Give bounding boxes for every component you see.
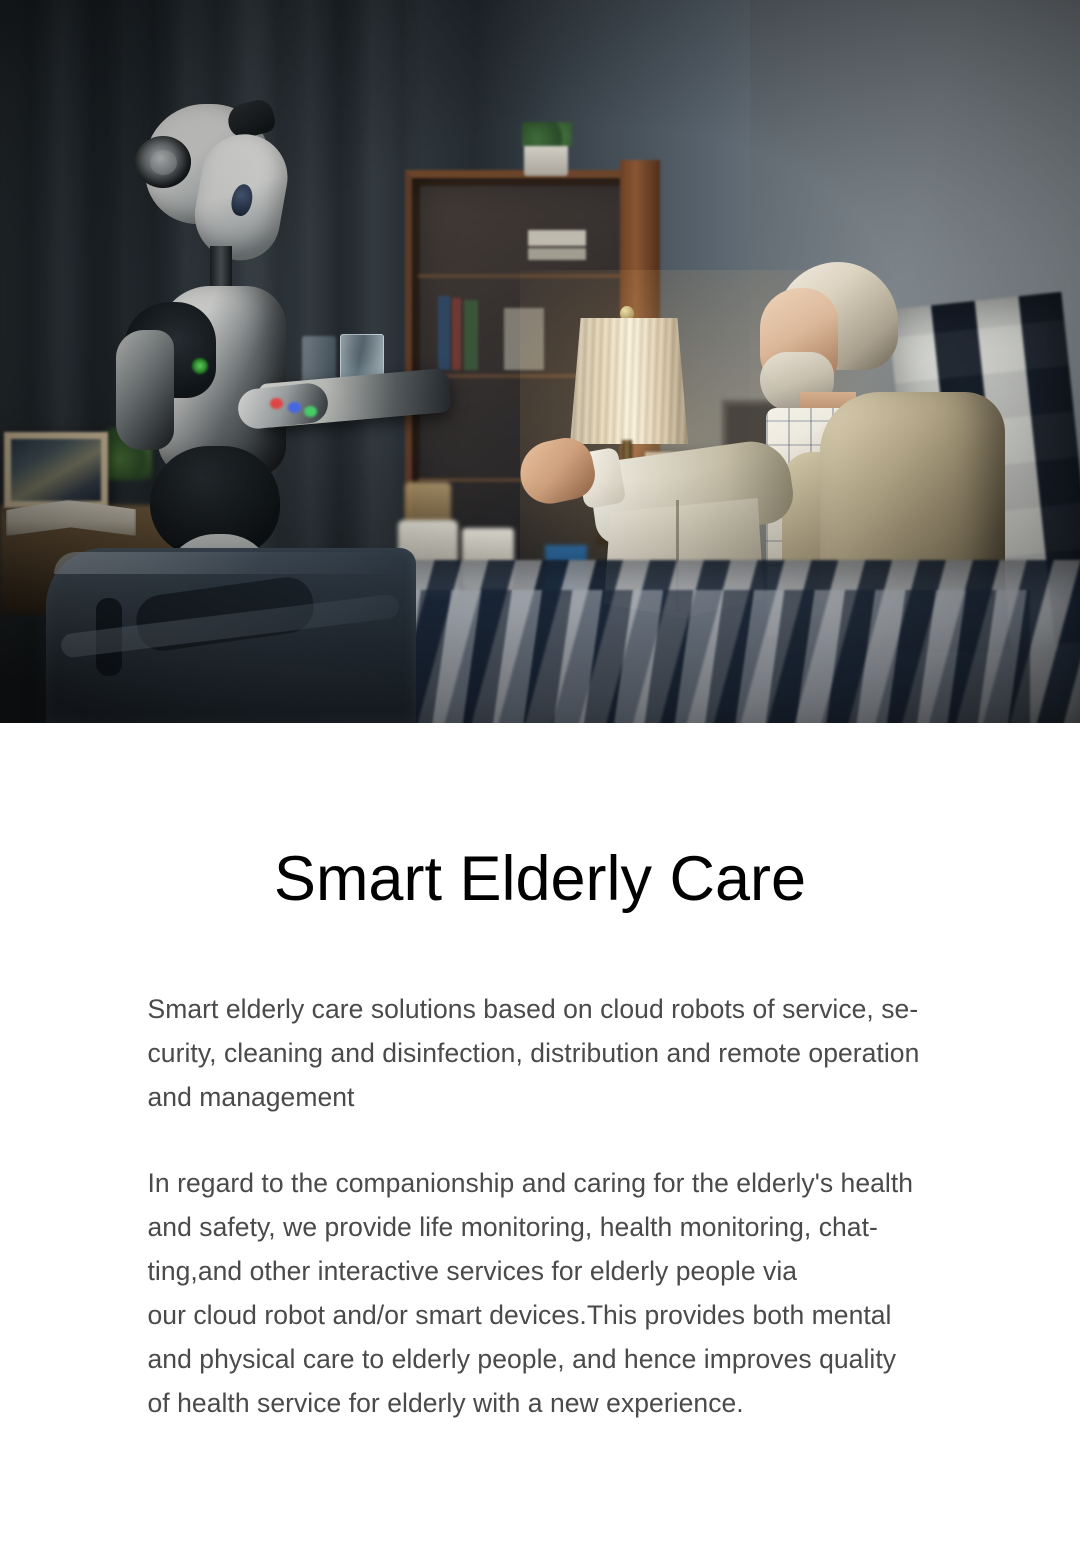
paragraph-line: ting,and other interactive services for …	[148, 1249, 1008, 1293]
hero-photo	[0, 0, 1080, 723]
robot-led-green-icon	[304, 406, 317, 417]
photo-image	[11, 439, 101, 501]
book	[464, 300, 478, 370]
hero-scene	[0, 0, 1080, 723]
paragraph-line: In regard to the companionship and carin…	[148, 1161, 1008, 1205]
body-copy: Smart elderly care solutions based on cl…	[73, 987, 1008, 1425]
plant-leaves	[522, 122, 572, 146]
paragraph-detail: In regard to the companionship and carin…	[148, 1161, 1008, 1425]
paragraph-line: of health service for elderly with a new…	[148, 1381, 1008, 1425]
bed-rail-highlight	[54, 552, 406, 574]
bookshelf-shelf	[418, 274, 620, 278]
robot-chest-indicator	[192, 358, 208, 374]
robot-arm	[116, 330, 174, 450]
book	[452, 298, 461, 370]
page-title: Smart Elderly Care	[0, 845, 1080, 914]
robot-led-blue-icon	[288, 402, 301, 413]
picture-frame-left	[4, 432, 108, 508]
page-root: Smart Elderly Care Smart elderly care so…	[0, 0, 1080, 1561]
paragraph-line: and safety, we provide life monitoring, …	[148, 1205, 1008, 1249]
paragraph-line: our cloud robot and/or smart devices.Thi…	[148, 1293, 1008, 1337]
bed-blanket-fold	[330, 590, 1030, 723]
book	[528, 230, 586, 246]
lamp-shade-pleats	[570, 318, 688, 444]
robot-led-red-icon	[270, 398, 283, 409]
paragraph-line: Smart elderly care solutions based on cl…	[148, 987, 1008, 1031]
book	[528, 248, 586, 260]
book	[438, 296, 450, 370]
paragraph-intro: Smart elderly care solutions based on cl…	[148, 987, 1008, 1119]
paragraph-line: and management	[148, 1075, 1008, 1119]
paragraph-line: and physical care to elderly people, and…	[148, 1337, 1008, 1381]
robot-camera-lens	[150, 150, 177, 175]
book	[504, 308, 544, 370]
paragraph-line: curity, cleaning and disinfection, distr…	[148, 1031, 1008, 1075]
content-section: Smart Elderly Care Smart elderly care so…	[0, 723, 1080, 1561]
